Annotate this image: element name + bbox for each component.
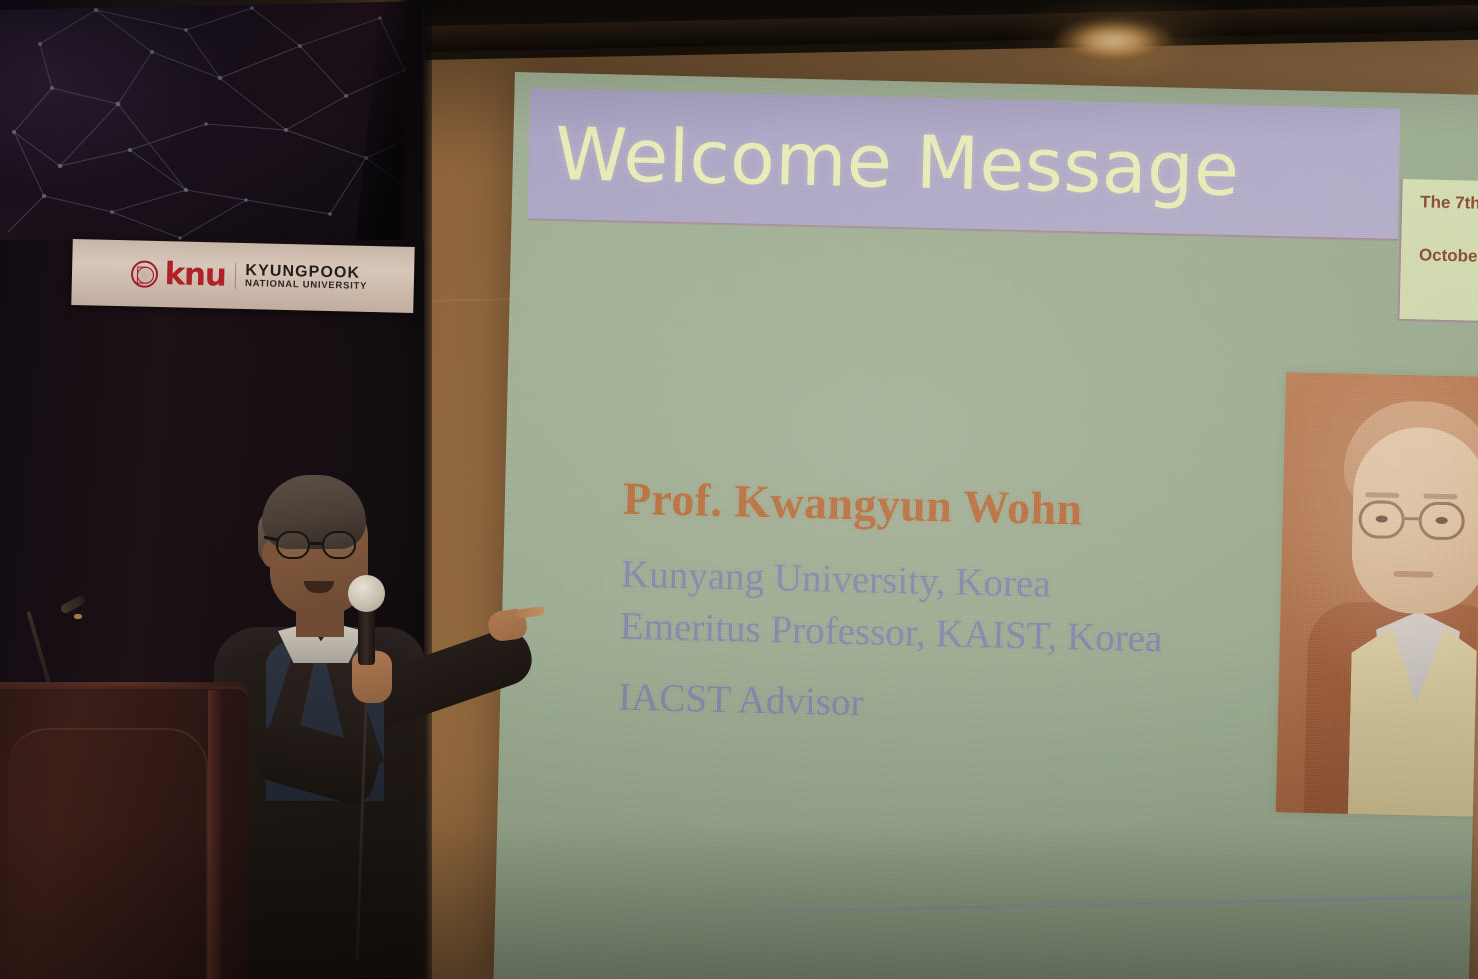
- knu-divider: [234, 263, 236, 289]
- presentation-photo-scene: Welcome Message The 7th October 2 Prof. …: [0, 0, 1478, 979]
- slide-body: Prof. Kwangyun Wohn Kunyang University, …: [618, 475, 1324, 740]
- speaker-person: [200, 455, 540, 979]
- speaker-lens-left: [276, 531, 310, 559]
- knu-wordmark: knu: [164, 259, 226, 291]
- ceiling-spotlight: [1056, 18, 1172, 64]
- speaker-index-finger: [514, 606, 545, 619]
- auditorium-backdrop: [0, 0, 432, 246]
- slide-meta-panel: The 7th October 2: [1397, 179, 1478, 325]
- podium-side-edge: [208, 690, 222, 979]
- slide-diagonal-line: [595, 894, 1478, 917]
- speaker-glasses: [276, 531, 364, 561]
- slide-affiliation-3: IACST Advisor: [618, 672, 1319, 740]
- speaker-lens-right: [322, 531, 356, 559]
- podium-mic-tip: [74, 614, 82, 619]
- slide-title: Welcome Message: [528, 117, 1240, 207]
- microphone-body: [358, 603, 375, 665]
- slide-portrait-photo: [1276, 372, 1478, 817]
- podium-front-panel: [8, 728, 208, 979]
- slide-title-band: Welcome Message: [528, 88, 1401, 240]
- meta-date-line: October 2: [1419, 246, 1478, 267]
- knu-university-subtitle: NATIONAL UNIVERSITY: [245, 279, 367, 292]
- portrait-highlight: [1276, 372, 1478, 817]
- slide-speaker-name: Prof. Kwangyun Wohn: [622, 475, 1323, 540]
- speaker-glasses-bridge: [310, 542, 322, 545]
- projection-screen: Welcome Message The 7th October 2 Prof. …: [493, 72, 1478, 979]
- speaker-pointing-hand: [486, 601, 546, 642]
- knu-banner: knu KYUNGPOOK NATIONAL UNIVERSITY: [71, 239, 414, 313]
- microphone-windscreen: [348, 575, 385, 612]
- meta-conference-line: The 7th: [1420, 193, 1478, 214]
- knu-seal-icon: [130, 260, 158, 288]
